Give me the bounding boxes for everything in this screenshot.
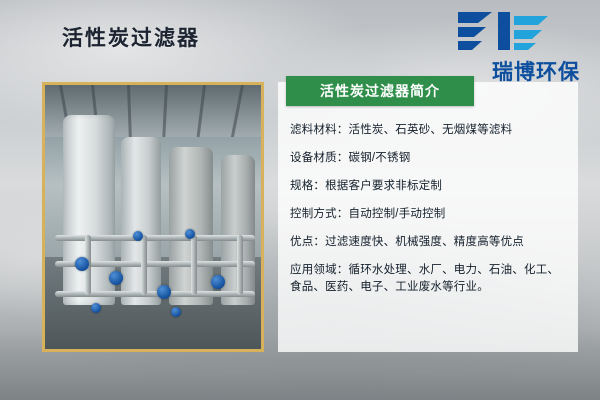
spec-label: 设备材质：: [290, 152, 349, 164]
spec-label: 应用领域：: [290, 264, 349, 276]
page-title: 活性炭过滤器: [62, 22, 200, 52]
spec-row: 应用领域：循环水处理、水厂、电力、石油、化工、食品、医药、电子、工业废水等行业。: [290, 262, 566, 296]
spec-row: 滤料材料：活性炭、石英砂、无烟煤等滤料: [290, 122, 566, 139]
spec-row: 优点：过滤速度快、机械强度、精度高等优点: [290, 234, 566, 251]
company-logo: 瑞博环保: [452, 10, 582, 82]
valve-handle: [109, 271, 123, 285]
pipe: [237, 235, 243, 295]
valve-handle: [91, 303, 101, 313]
valve-handle: [75, 257, 89, 271]
equipment-photo: [45, 85, 261, 349]
spec-label: 滤料材料：: [290, 124, 349, 136]
valve-handle: [211, 275, 225, 289]
panel-body: 滤料材料：活性炭、石英砂、无烟煤等滤料 设备材质：碳钢/不锈钢 规格：根据客户要…: [278, 116, 578, 296]
spec-label: 规格：: [290, 180, 325, 192]
info-panel: 活性炭过滤器简介 滤料材料：活性炭、石英砂、无烟煤等滤料 设备材质：碳钢/不锈钢…: [278, 82, 578, 352]
spec-value: 活性炭、石英砂、无烟煤等滤料: [349, 124, 513, 136]
spec-label: 控制方式：: [290, 208, 349, 220]
valve-handle: [157, 285, 171, 299]
spec-row: 控制方式：自动控制/手动控制: [290, 206, 566, 223]
panel-header: 活性炭过滤器简介: [286, 76, 474, 106]
spec-row: 设备材质：碳钢/不锈钢: [290, 150, 566, 167]
spec-value: 过滤速度快、机械强度、精度高等优点: [325, 236, 524, 248]
spec-value: 根据客户要求非标定制: [325, 180, 442, 192]
valve-handle: [185, 229, 195, 239]
valve-handle: [133, 231, 143, 241]
spec-row: 规格：根据客户要求非标定制: [290, 178, 566, 195]
pipe: [141, 235, 147, 295]
spec-value: 碳钢/不锈钢: [349, 152, 411, 164]
slide-root: 活性炭过滤器 瑞博环保: [0, 0, 600, 400]
valve-handle: [171, 307, 181, 317]
photo-frame: [42, 82, 264, 352]
logo-mark-icon: [452, 10, 578, 52]
pipe: [191, 235, 197, 295]
spec-value: 自动控制/手动控制: [349, 208, 446, 220]
spec-label: 优点：: [290, 236, 325, 248]
